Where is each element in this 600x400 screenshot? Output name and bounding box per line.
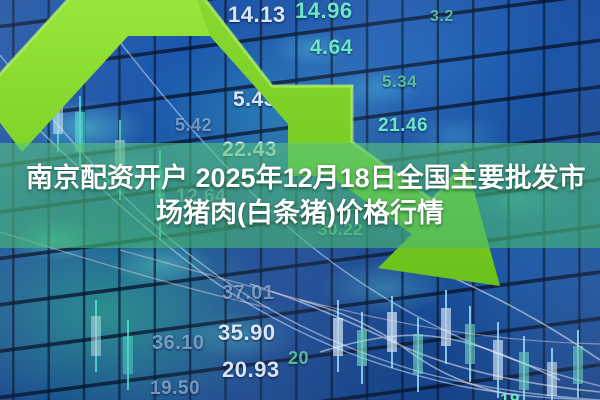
- caption-block: 南京配资开户 2025年12月18日全国主要批发市 场猪肉(白条猪)价格行情: [0, 143, 600, 248]
- caption-line-1: 南京配资开户 2025年12月18日全国主要批发市: [26, 163, 586, 194]
- caption-line-2: 场猪肉(白条猪)价格行情: [156, 198, 444, 229]
- banner-image: 14.1314.964.645.875.435.4222.433521.465.…: [0, 0, 600, 400]
